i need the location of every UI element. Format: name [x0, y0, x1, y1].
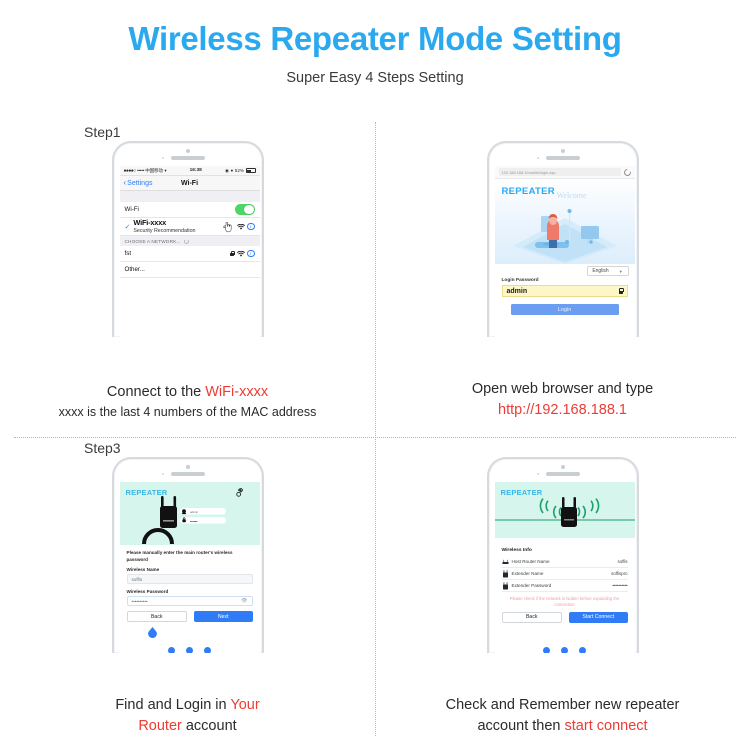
step-2-caption: Open web browser and type http://192.168…	[375, 379, 750, 423]
phone-speaker-icon	[171, 472, 205, 476]
network-name-fst: fst	[125, 250, 132, 257]
step-2-caption-line1: Open web browser and type	[375, 379, 750, 401]
connected-row-icons: i	[237, 223, 255, 231]
step-4-cell: Step4 REPEATER	[375, 434, 750, 750]
info-label-extender-name: Extender Name	[512, 571, 544, 576]
info-value-extender-password: ••••••••••	[612, 583, 627, 588]
caption-highlight: Your	[230, 697, 259, 713]
battery-icon	[246, 168, 256, 173]
network-info-button[interactable]: i	[247, 223, 255, 231]
extender-signal-illustration	[495, 482, 635, 538]
step-3-label: Step3	[84, 440, 121, 456]
choose-network-header: CHOOSE A NETWORK...	[120, 236, 260, 246]
phone-screen-step4: REPEATER	[495, 482, 635, 653]
page-title: Wireless Repeater Mode Setting	[0, 0, 750, 57]
router-icon	[502, 559, 509, 565]
connected-network-row[interactable]: ✓ WiFi-xxxx Security Recommendation i	[120, 218, 260, 236]
info-label-extender-password: Extender Password	[512, 583, 552, 588]
phone-frame-step3: REPEATER	[112, 457, 264, 653]
alarm-icon: ●	[231, 168, 234, 173]
step-2-caption-line2: http://192.168.188.1	[375, 400, 750, 422]
reload-icon[interactable]	[622, 167, 632, 177]
rotation-lock-icon: ◉	[225, 168, 229, 174]
connected-ssid: WiFi-xxxx Security Recommendation	[133, 219, 195, 234]
caption-post: account	[182, 718, 237, 734]
info-row-extender-password: Extender Password ••••••••••	[502, 580, 628, 592]
step-3-caption: Find and Login in Your Router account	[0, 695, 375, 739]
vertical-divider	[375, 122, 376, 736]
repeater-hero-banner: REPEATER Welcome	[495, 179, 635, 264]
phone-camera-icon	[186, 149, 190, 153]
phone-frame-step4: REPEATER	[487, 457, 639, 653]
phone-speaker-icon	[546, 156, 580, 160]
phone-screen-step3: REPEATER	[120, 482, 260, 653]
step-3-caption-line1: Find and Login in Your	[0, 695, 375, 717]
wireless-password-label: Wireless Password	[127, 589, 253, 594]
step-dot	[561, 647, 568, 653]
loading-spinner-icon	[184, 239, 189, 244]
wifi-toggle-label: Wi-Fi	[125, 206, 139, 213]
language-select[interactable]: English ▼	[587, 266, 629, 276]
caption-highlight: start connect	[565, 718, 648, 734]
step-3-cell: Step3 REPEATER	[0, 434, 375, 750]
step-3-caption-line2: Router account	[0, 716, 375, 738]
back-button[interactable]: Back	[127, 611, 188, 622]
info-value-extender-name: soffispro	[611, 571, 627, 576]
extender-icon	[502, 582, 509, 590]
wireless-password-value: ••••••••••	[132, 599, 148, 604]
browser-address-bar: 192.168.188.1/mobile/login.asp	[495, 166, 635, 179]
network-row-fst[interactable]: fst i	[120, 246, 260, 262]
fst-row-icons: i	[230, 250, 255, 258]
phone-speaker-icon	[171, 156, 205, 160]
phone-frame-step2: 192.168.188.1/mobile/login.asp REPEATER …	[487, 141, 639, 337]
step-4-caption-line1: Check and Remember new repeater	[375, 695, 750, 717]
lock-icon	[230, 251, 234, 256]
next-button[interactable]: Next	[194, 611, 253, 622]
step-2-cell: Step2 192.168.188.1/mobile/login.asp REP…	[375, 118, 750, 434]
step-4-caption: Check and Remember new repeater account …	[375, 695, 750, 739]
info-row-extender-name: Extender Name soffispro	[502, 568, 628, 580]
login-password-label: Login Password	[502, 278, 628, 283]
wireless-name-input[interactable]: soffis	[127, 574, 253, 584]
wireless-info-panel: Wireless Info Host Router Name soffis Ex…	[495, 538, 635, 623]
login-password-value: admin	[507, 288, 528, 295]
repeater-brand-label: REPEATER	[502, 186, 555, 197]
network-info-button[interactable]: i	[247, 250, 255, 258]
battery-percent: 52%	[235, 168, 244, 173]
ios-status-bar: ●●●●○ ••••• 中国移动 ▾ 16:38 ◉ ● 52%	[120, 166, 260, 176]
pointer-drop-marker-icon	[148, 627, 157, 638]
welcome-label: Welcome	[557, 191, 587, 200]
caption-pre: Find and Login in	[115, 697, 230, 713]
step-1-cell: Step1 ●●●●○ ••••• 中国移动 ▾ 16:38 ◉ ● 52%	[0, 118, 375, 434]
nav-title: Wi-Fi	[120, 180, 260, 187]
cursor-hand-icon	[223, 222, 232, 233]
step-1-caption-line1: Connect to the WiFi-xxxx	[0, 382, 375, 404]
step3-button-row: Back Next	[127, 611, 253, 622]
start-connect-button[interactable]: Start Connect	[569, 612, 628, 623]
phone-speaker-icon	[546, 472, 580, 476]
lock-icon	[619, 288, 623, 293]
step-1-caption-line2: xxxx is the last 4 numbers of the MAC ad…	[0, 403, 375, 422]
phone-frame-step1: ●●●●○ ••••• 中国移动 ▾ 16:38 ◉ ● 52% ‹	[112, 141, 264, 337]
step-1-label: Step1	[84, 124, 121, 140]
carrier-label: ••••• 中国移动	[137, 168, 163, 174]
choose-network-label: CHOOSE A NETWORK...	[125, 239, 181, 244]
phone-camera-icon	[561, 149, 565, 153]
phone-sensor-icon	[537, 157, 540, 160]
step-dot	[579, 647, 586, 653]
ios-nav-bar: ‹ Settings Wi-Fi	[120, 176, 260, 191]
signal-dots-icon: ●●●●○	[124, 168, 136, 174]
hero-illustration	[495, 202, 635, 264]
back-button[interactable]: Back	[502, 612, 563, 623]
svg-text:••••••: ••••••	[190, 519, 198, 523]
repeater-hero-step3: REPEATER	[120, 482, 260, 545]
repeater-login-form: English ▼ Login Password admin Login	[495, 264, 635, 315]
wifi-signal-icon	[237, 224, 245, 230]
login-password-input[interactable]: admin	[502, 285, 628, 297]
hidden-network-warning: Please check if the network is hidden be…	[504, 596, 626, 609]
network-name-other: Other...	[125, 266, 145, 273]
phone-camera-icon	[561, 465, 565, 469]
caption-pre: Connect to the	[107, 384, 205, 400]
wifi-toggle-row[interactable]: Wi-Fi	[120, 202, 260, 218]
step-indicator-dots	[495, 647, 635, 653]
wifi-signal-icon	[237, 251, 245, 257]
status-right: ◉ ● 52%	[225, 168, 256, 174]
page-subtitle: Super Easy 4 Steps Setting	[0, 70, 750, 86]
login-button[interactable]: Login	[511, 304, 619, 315]
language-value: English	[592, 268, 608, 274]
phone-screen-step2: 192.168.188.1/mobile/login.asp REPEATER …	[495, 166, 635, 337]
status-time: 16:38	[166, 168, 225, 173]
ios-spacer	[120, 191, 260, 202]
wireless-info-title: Wireless Info	[502, 548, 628, 553]
wireless-name-value: soffis	[132, 577, 143, 582]
step4-button-row: Back Start Connect	[502, 612, 628, 623]
ssid-name: WiFi-xxxx	[133, 219, 195, 228]
checkmark-icon: ✓	[125, 223, 131, 231]
phone-sensor-icon	[162, 473, 165, 476]
repeater-hero-step4: REPEATER	[495, 482, 635, 538]
caption-highlight-2: Router	[138, 718, 182, 734]
manual-entry-note: Please manually enter the main router's …	[127, 550, 253, 563]
phone-sensor-icon	[162, 157, 165, 160]
wireless-name-label: Wireless Name	[127, 567, 253, 572]
url-input[interactable]: 192.168.188.1/mobile/login.asp	[499, 168, 621, 177]
repeater-form-step3: Please manually enter the main router's …	[120, 545, 260, 622]
caption-pre: account then	[477, 718, 564, 734]
ssid-subtitle: Security Recommendation	[133, 228, 195, 234]
wireless-password-input[interactable]: •••••••••• 👁	[127, 596, 253, 606]
svg-text:admin: admin	[190, 510, 199, 514]
extender-icon	[502, 570, 509, 578]
phone-screen-step1: ●●●●○ ••••• 中国移动 ▾ 16:38 ◉ ● 52% ‹	[120, 166, 260, 337]
step-dot	[204, 647, 211, 653]
info-label-host-router: Host Router Name	[512, 559, 550, 564]
chevron-down-icon: ▼	[619, 269, 623, 274]
step-1-caption: Connect to the WiFi-xxxx xxxx is the las…	[0, 382, 375, 423]
step-dot	[543, 647, 550, 653]
caption-highlight: WiFi-xxxx	[205, 384, 268, 400]
status-carrier: ●●●●○ ••••• 中国移动 ▾	[124, 168, 167, 174]
network-row-other[interactable]: Other...	[120, 262, 260, 278]
phone-camera-icon	[186, 465, 190, 469]
wifi-toggle-switch[interactable]	[235, 204, 255, 215]
info-value-host-router: soffis	[617, 559, 627, 564]
extender-illustration: admin ••••••	[120, 482, 260, 545]
step-indicator-dots	[120, 647, 260, 653]
eye-toggle-icon[interactable]: 👁	[241, 598, 247, 604]
step-dot	[168, 647, 175, 653]
info-row-host-router: Host Router Name soffis	[502, 556, 628, 568]
step-dot	[186, 647, 193, 653]
horizontal-divider	[14, 437, 736, 438]
step-4-caption-line2: account then start connect	[375, 716, 750, 738]
phone-sensor-icon	[537, 473, 540, 476]
